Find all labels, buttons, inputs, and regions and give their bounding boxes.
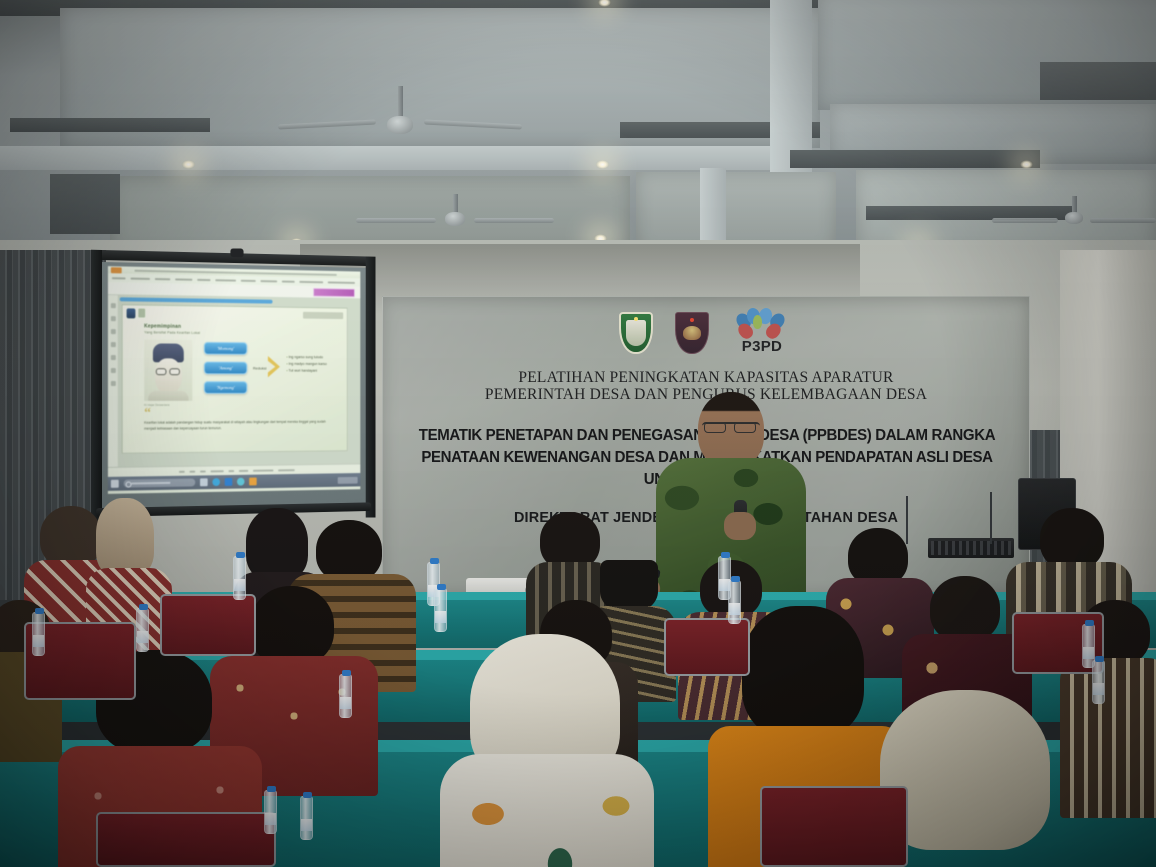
slide-logo-icon — [127, 308, 136, 318]
projection-screen: Kepemimpinan Yang Bersifat Pada Kearifan… — [102, 258, 366, 520]
quote-mark-icon: “ — [144, 409, 151, 419]
store-icon[interactable] — [237, 478, 245, 486]
chair — [664, 618, 750, 676]
taskbar-clock — [338, 476, 358, 483]
mail-icon[interactable] — [225, 478, 233, 486]
water-bottle — [728, 580, 741, 624]
water-bottle — [264, 790, 277, 834]
ceiling — [0, 0, 1156, 268]
folder-icon[interactable] — [249, 478, 256, 486]
water-bottle — [32, 612, 45, 656]
slide-subtitle: Yang Bersifat Pada Kearifan Lokal — [144, 330, 200, 335]
screen-left-edge — [91, 250, 102, 525]
slide-bullet-list: Ing ngarso sung tulodo Ing madyo mangun … — [286, 354, 343, 374]
water-bottle — [434, 588, 447, 632]
water-bottle — [300, 796, 313, 840]
water-bottle — [233, 556, 246, 600]
task-view-icon[interactable] — [200, 478, 208, 486]
edge-icon[interactable] — [212, 478, 220, 486]
progress-bar — [120, 297, 273, 303]
water-bottle — [1092, 660, 1105, 704]
powerpoint-workspace: Kepemimpinan Yang Bersifat Pada Kearifan… — [108, 295, 360, 467]
slide-secondary-logo-icon — [138, 309, 145, 318]
antenna — [990, 492, 992, 544]
windows-taskbar — [108, 473, 360, 491]
speaker-right-hand — [724, 512, 756, 540]
antenna — [906, 496, 908, 544]
regional-government-emblem-icon — [619, 312, 653, 354]
seminar-photo: P3PD PELATIHAN PENINGKATAN KAPASITAS APA… — [0, 0, 1156, 867]
left-toolbar — [108, 295, 118, 467]
bullet-item: Tut wuri handayani — [286, 368, 343, 375]
taskbar-search-input[interactable] — [124, 479, 196, 488]
slide-button-among[interactable]: 'Among' — [204, 362, 247, 375]
speaker-glasses-icon — [704, 422, 726, 433]
chair — [96, 812, 276, 867]
screen-surface: Kepemimpinan Yang Bersifat Pada Kearifan… — [102, 262, 366, 510]
chevron-right-icon — [268, 356, 280, 377]
chair — [160, 594, 256, 656]
file-tab-icon — [111, 267, 122, 273]
start-button-icon[interactable] — [111, 480, 119, 488]
water-bottle — [136, 608, 149, 652]
hijab — [96, 498, 154, 576]
projected-desktop: Kepemimpinan Yang Bersifat Pada Kearifan… — [108, 266, 360, 494]
slide-canvas: Kepemimpinan Yang Bersifat Pada Kearifan… — [122, 304, 348, 453]
slide-quote: Kearifan lokal adalah pandangan hidup su… — [144, 420, 336, 432]
banner-heading-line1: PELATIHAN PENINGKATAN KAPASITAS APARATUR — [383, 369, 1029, 386]
p3pd-label: P3PD — [731, 339, 793, 354]
slide-button-ngemong[interactable]: 'Ngemong' — [204, 381, 247, 394]
portrait-image — [144, 339, 192, 401]
screen-right-edge — [366, 256, 376, 517]
hijab-black — [246, 508, 308, 580]
water-bottle — [339, 674, 352, 718]
patterned-hijab — [440, 754, 654, 867]
slide-button-momong[interactable]: 'Momong' — [204, 342, 247, 355]
slide-title: Kepemimpinan — [144, 323, 181, 329]
present-button[interactable] — [313, 288, 355, 297]
slide-brand-mark — [303, 312, 343, 319]
chair — [760, 786, 908, 867]
audio-mixer — [928, 538, 1014, 558]
speaker-glasses-icon — [734, 422, 756, 433]
kemendagri-emblem-icon — [675, 312, 709, 354]
p3pd-logo-icon: P3PD — [731, 307, 793, 354]
arrow-label: Reduksi — [253, 366, 266, 371]
banner-logos: P3PD — [383, 307, 1029, 354]
songkok-cap — [600, 560, 658, 612]
